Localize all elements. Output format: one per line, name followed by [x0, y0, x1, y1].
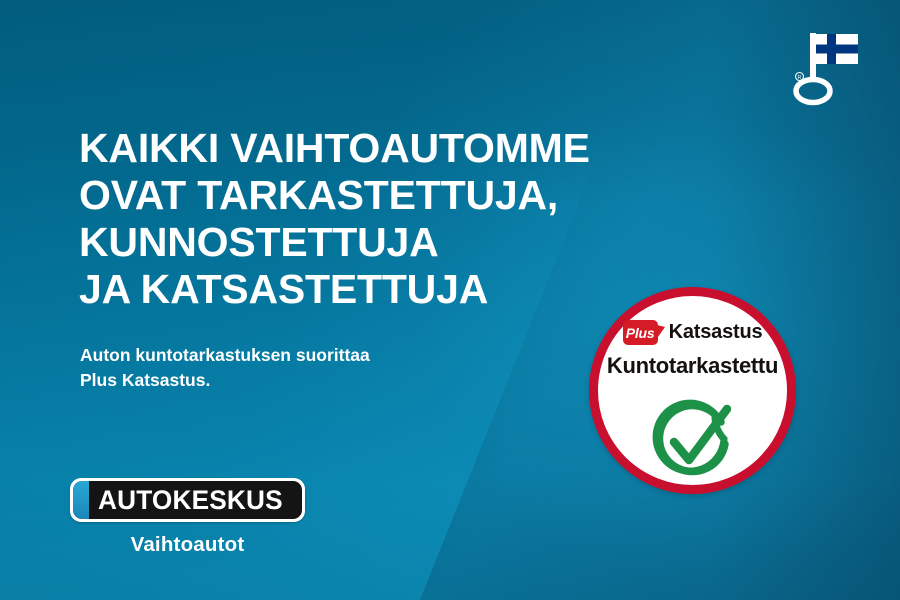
finnish-key-flag-icon: R — [786, 28, 868, 108]
subtitle: Auton kuntotarkastuksen suorittaa Plus K… — [80, 343, 500, 393]
headline-line-4: JA KATSASTETTUJA — [79, 266, 699, 313]
plus-mark-icon: Plus — [623, 320, 665, 345]
subtitle-line-2: Plus Katsastus. — [80, 368, 500, 393]
advertisement-banner: R KAIKKI VAIHTOAUTOMME OVAT TARKASTETTUJ… — [0, 0, 900, 600]
avainlippu-key-flag: R — [786, 28, 868, 108]
plus-mark-label: Plus — [626, 326, 655, 340]
headline-line-3: KUNNOSTETTUJA — [79, 219, 699, 266]
kuntotarkastettu-badge: Plus Katsastus Kuntotarkastettu — [589, 287, 796, 494]
green-check-circle-icon — [645, 392, 741, 488]
autokeskus-license-plate: AUTOKESKUS — [70, 478, 305, 522]
plus-mark-box: Plus — [623, 320, 658, 345]
autokeskus-tagline: Vaihtoautot — [70, 533, 305, 557]
svg-text:R: R — [798, 75, 802, 81]
badge-check-mark — [645, 392, 741, 488]
autokeskus-wordmark: AUTOKESKUS — [76, 481, 298, 519]
headline-line-2: OVAT TARKASTETTUJA, — [79, 172, 699, 219]
autokeskus-plate-inner: AUTOKESKUS — [73, 481, 302, 519]
headline: KAIKKI VAIHTOAUTOMME OVAT TARKASTETTUJA,… — [79, 125, 699, 313]
katsastus-brand-label: Katsastus — [669, 321, 763, 344]
subtitle-line-1: Auton kuntotarkastuksen suorittaa — [80, 343, 500, 368]
autokeskus-logo[interactable]: AUTOKESKUS Vaihtoautot — [70, 478, 310, 557]
plus-katsastus-logo: Plus Katsastus — [598, 320, 787, 345]
headline-line-1: KAIKKI VAIHTOAUTOMME — [79, 125, 699, 172]
badge-title: Kuntotarkastettu — [598, 353, 787, 379]
